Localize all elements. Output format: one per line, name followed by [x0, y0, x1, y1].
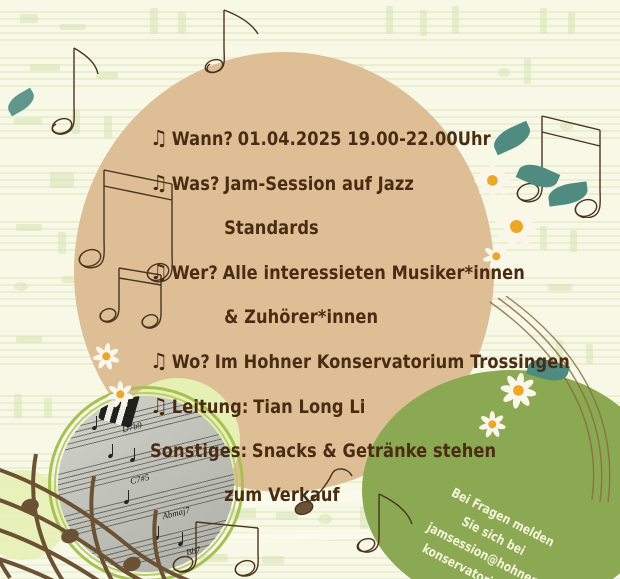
detail-value: Tian Long Li — [253, 385, 365, 429]
event-detail-line: Standards — [150, 206, 549, 250]
detail-value: Jam-Session auf Jazz — [224, 162, 414, 206]
detail-label: Was? — [172, 162, 220, 206]
detail-label: Wer? — [172, 251, 218, 295]
detail-value: Alle interessieten Musiker*innen — [223, 251, 525, 295]
detail-value: Standards — [224, 206, 319, 250]
detail-value: 01.04.2025 19.00-22.00Uhr — [238, 117, 491, 161]
detail-label: Wo? — [172, 340, 210, 384]
event-detail-line: ♫Wann?01.04.2025 19.00-22.00Uhr — [150, 116, 549, 161]
event-detail-line: ♫Wo?Im Hohner Konservatorium Trossingen — [150, 339, 549, 384]
music-note-icon-8 — [168, 520, 288, 579]
event-detail-line: ♫Wer?Alle interessieten Musiker*innen — [150, 250, 549, 295]
music-note-bullet-icon: ♫ — [150, 116, 168, 160]
detail-value: & Zuhörer*innen — [224, 295, 378, 339]
music-note-bullet-icon: ♫ — [150, 384, 168, 428]
detail-value: zum Verkauf — [224, 473, 340, 517]
daisy-7 — [105, 379, 135, 409]
poster-canvas: Abmaj7 D7b9 C7#5 Abmaj7 Bb7 — [0, 0, 620, 579]
event-detail-line: Sonstiges:Snacks & Getränke stehen — [150, 429, 549, 473]
daisy-6 — [91, 341, 121, 371]
page-title: JAM-SESSION IM KONS — [0, 0, 620, 120]
event-detail-line: ♫Was?Jam-Session auf Jazz — [150, 161, 549, 206]
detail-value: Snacks & Getränke stehen — [252, 429, 496, 473]
detail-label: Leitung: — [172, 385, 249, 429]
event-detail-line: ♫Leitung:Tian Long Li — [150, 384, 549, 429]
detail-value: Im Hohner Konservatorium Trossingen — [215, 340, 570, 384]
music-note-bullet-icon: ♫ — [150, 161, 168, 205]
music-note-bullet-icon: ♫ — [150, 250, 168, 294]
detail-label: Wann? — [172, 117, 233, 161]
detail-label: Sonstiges: — [150, 429, 247, 473]
event-details-list: ♫Wann?01.04.2025 19.00-22.00Uhr♫Was?Jam-… — [150, 116, 570, 517]
music-note-bullet-icon: ♫ — [150, 339, 168, 383]
event-detail-line: & Zuhörer*innen — [150, 295, 549, 339]
